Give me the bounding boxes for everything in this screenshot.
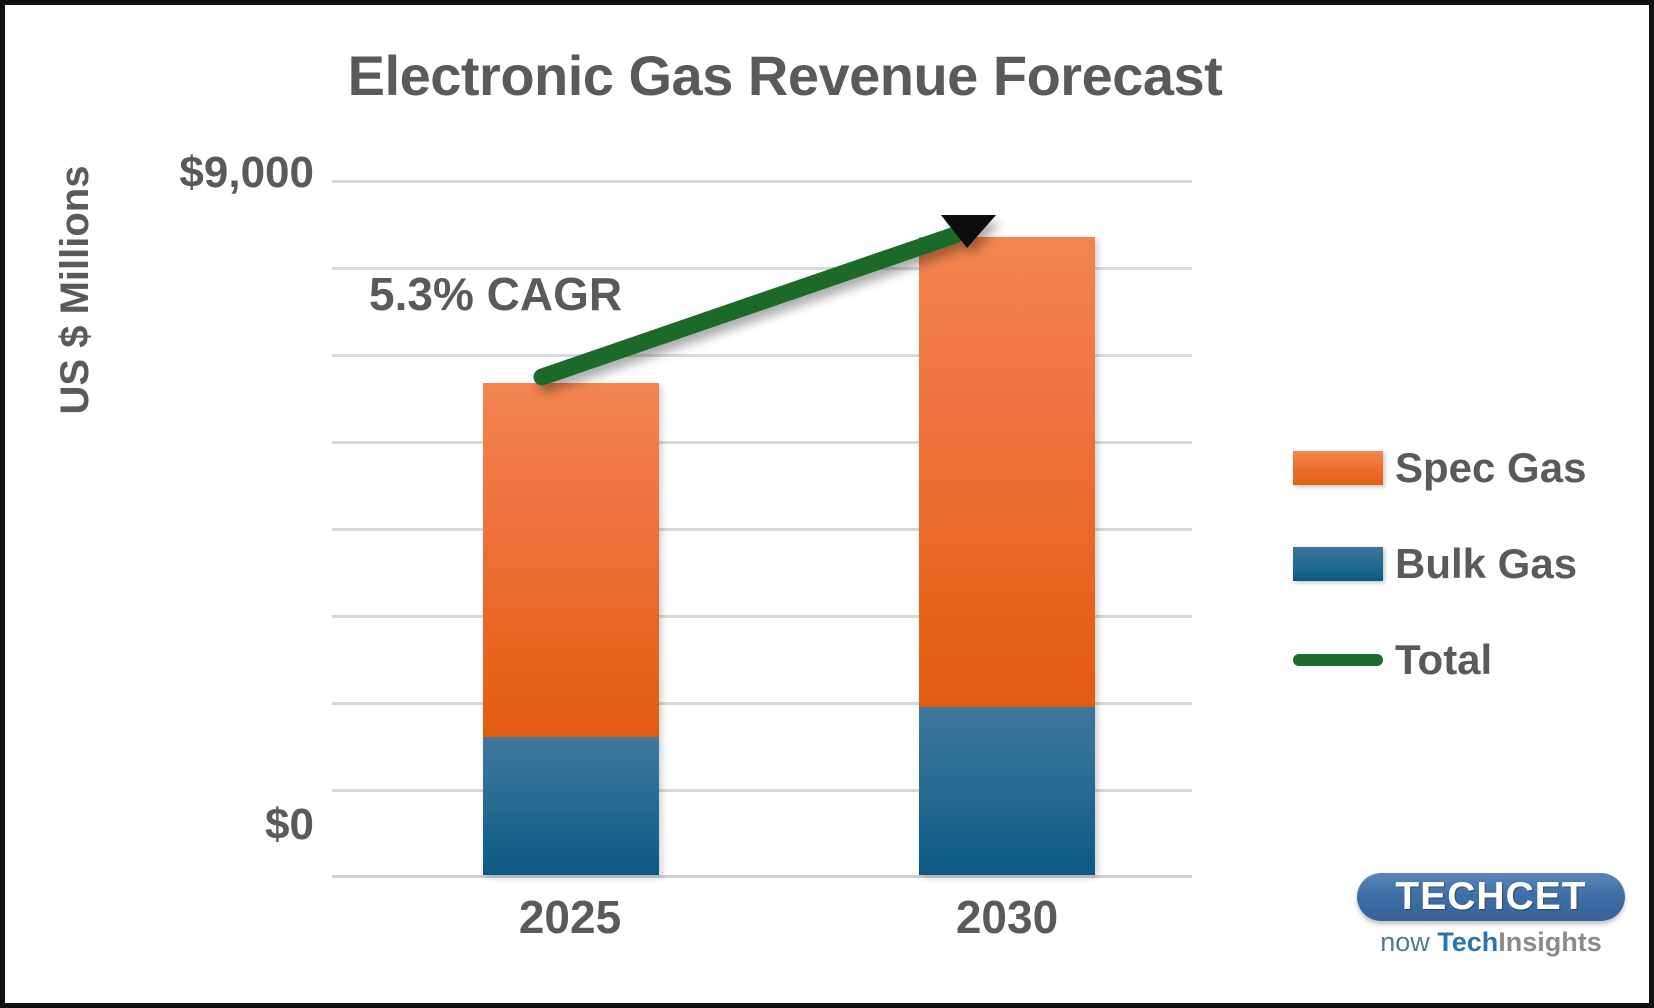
y-tick-label-min: $0	[54, 800, 314, 850]
bar-group-2025[interactable]	[483, 383, 659, 875]
x-tick-label-2030: 2030	[847, 890, 1167, 944]
techcet-logo[interactable]: TECHCET now TechInsights	[1357, 873, 1625, 958]
legend: Spec Gas Bulk Gas Total	[1293, 420, 1633, 708]
bar-group-2030[interactable]	[919, 237, 1095, 875]
legend-swatch-bulk-gas-icon	[1293, 547, 1383, 581]
page-title: Electronic Gas Revenue Forecast	[5, 43, 1565, 108]
chart-canvas: Electronic Gas Revenue Forecast US $ Mil…	[0, 0, 1654, 1008]
chart-inner: Electronic Gas Revenue Forecast US $ Mil…	[5, 5, 1649, 1003]
tagline-tech: Tech	[1437, 927, 1498, 957]
bar-segment-spec-gas-2030[interactable]	[919, 237, 1095, 707]
techcet-wordmark-pill: TECHCET	[1357, 873, 1625, 921]
bar-segment-spec-gas-2025[interactable]	[483, 383, 659, 737]
x-tick-label-2025: 2025	[410, 890, 730, 944]
bar-segment-bulk-gas-2025[interactable]	[483, 737, 659, 875]
legend-label-spec-gas: Spec Gas	[1395, 444, 1586, 492]
legend-item-bulk-gas[interactable]: Bulk Gas	[1293, 516, 1633, 612]
legend-swatch-spec-gas-icon	[1293, 451, 1383, 485]
legend-label-bulk-gas: Bulk Gas	[1395, 540, 1577, 588]
tagline-insights: Insights	[1498, 927, 1602, 957]
cagr-annotation: 5.3% CAGR	[369, 267, 622, 321]
legend-label-total: Total	[1395, 636, 1492, 684]
legend-item-spec-gas[interactable]: Spec Gas	[1293, 420, 1633, 516]
bar-segment-bulk-gas-2030[interactable]	[919, 707, 1095, 875]
techinsights-tagline: now TechInsights	[1357, 927, 1625, 958]
legend-line-total-icon	[1293, 654, 1383, 666]
legend-item-total[interactable]: Total	[1293, 612, 1633, 708]
y-tick-label-max: $9,000	[54, 148, 314, 198]
techcet-wordmark-text: TECHCET	[1357, 873, 1625, 921]
tagline-now: now	[1380, 927, 1430, 957]
gridline-baseline	[332, 875, 1192, 878]
gridline-9000	[332, 180, 1192, 183]
